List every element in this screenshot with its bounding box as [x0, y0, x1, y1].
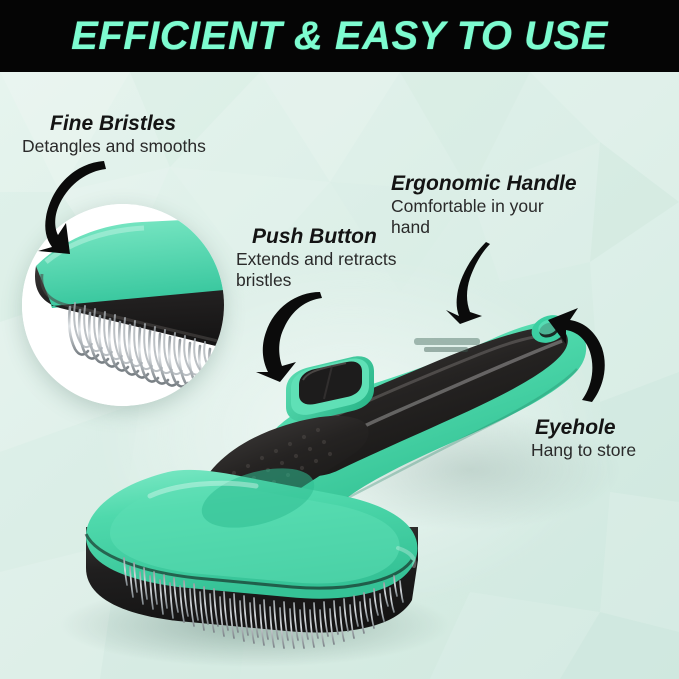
curved-arrow-down-right-icon [36, 155, 136, 260]
curved-arrow-down-left-icon [432, 238, 502, 326]
callout-title: Push Button [252, 225, 408, 249]
callout-subtitle: Comfortable in your hand [391, 196, 587, 238]
callout-title: Eyehole [535, 416, 636, 440]
callout-push-button: Push Button Extends and retracts bristle… [236, 225, 408, 291]
callout-fine-bristles: Fine Bristles Detangles and smooths [22, 112, 206, 157]
header-title: EFFICIENT & EASY TO USE [71, 14, 608, 59]
callout-subtitle: Extends and retracts bristles [236, 249, 408, 291]
header-banner: EFFICIENT & EASY TO USE [0, 0, 679, 72]
curved-arrow-up-left-icon [538, 306, 620, 406]
callout-title: Fine Bristles [50, 112, 206, 136]
curved-arrow-down-icon [254, 288, 332, 384]
callout-ergonomic-handle: Ergonomic Handle Comfortable in your han… [391, 172, 587, 238]
callout-subtitle: Detangles and smooths [22, 136, 206, 157]
callout-eyehole: Eyehole Hang to store [531, 416, 636, 461]
callout-title: Ergonomic Handle [391, 172, 587, 196]
product-infographic: EFFICIENT & EASY TO USE [0, 0, 679, 679]
callout-subtitle: Hang to store [531, 440, 636, 461]
